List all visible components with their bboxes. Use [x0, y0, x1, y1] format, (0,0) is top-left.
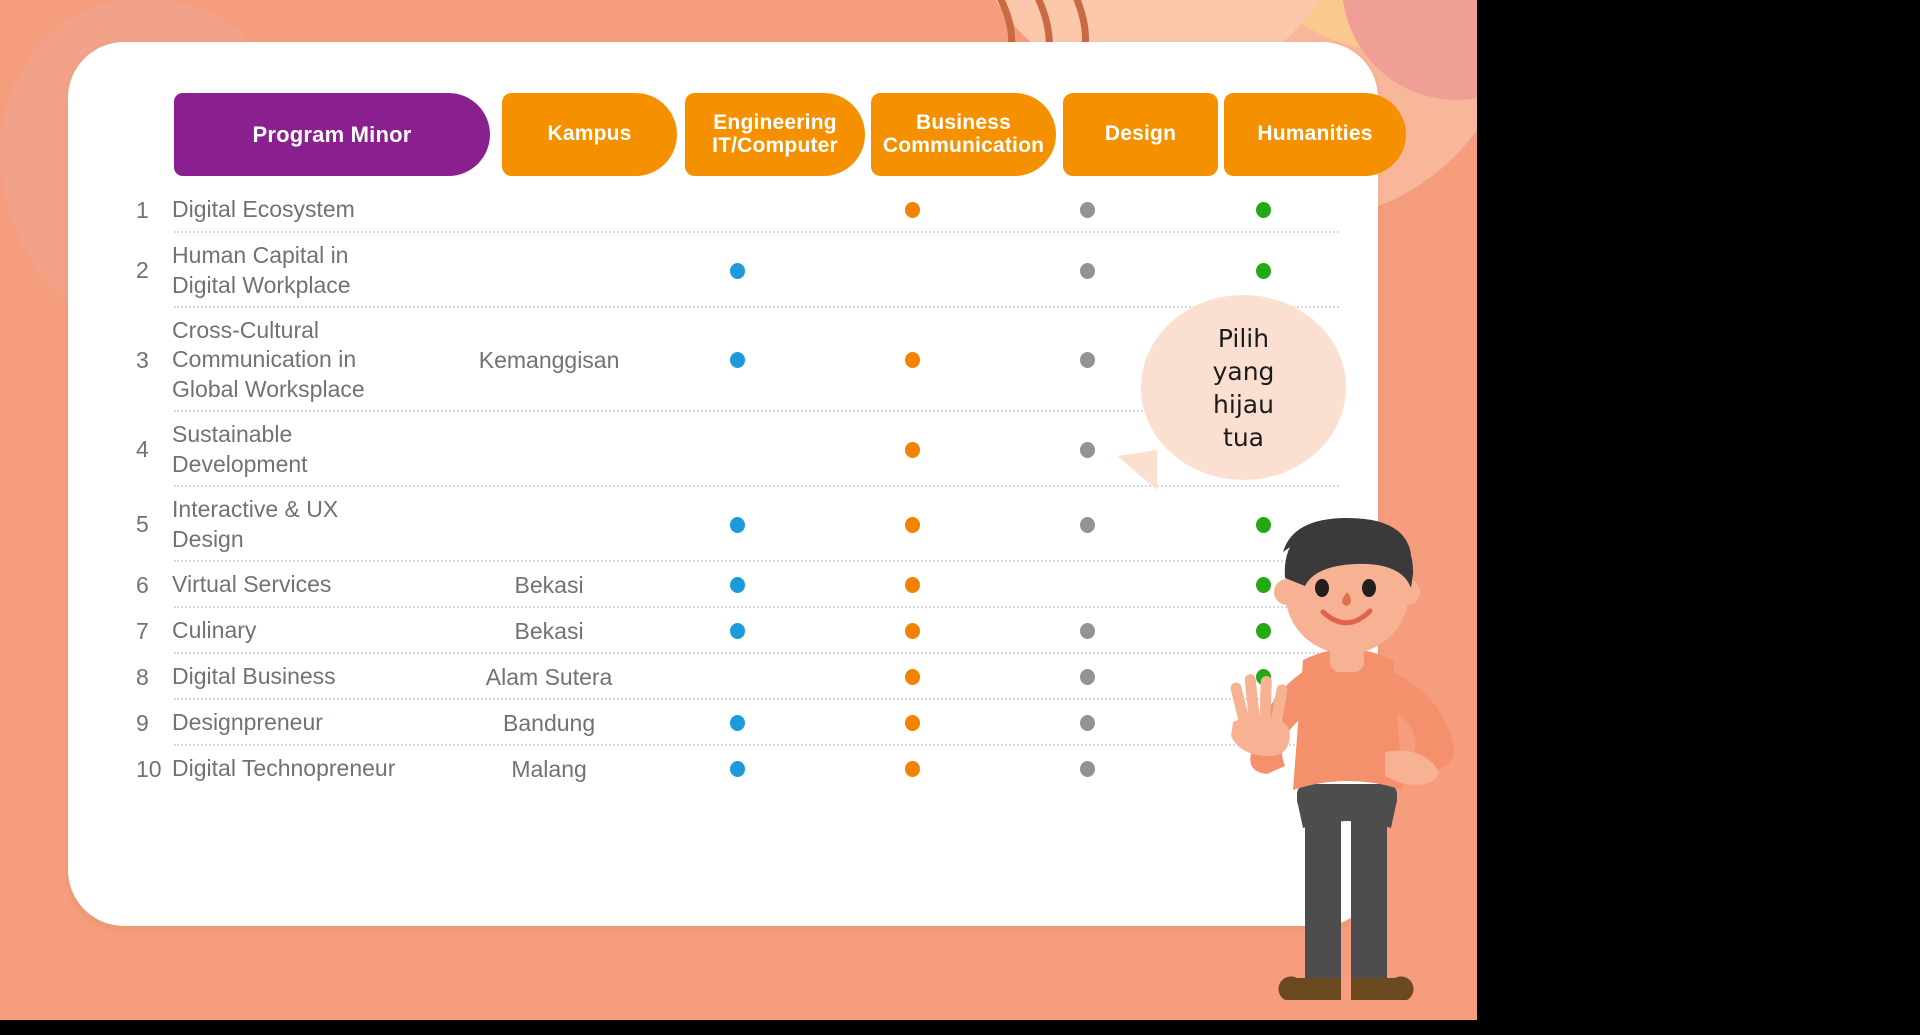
dot-empty	[905, 263, 920, 279]
row-number: 10	[106, 756, 172, 783]
dot-gray-icon	[1080, 623, 1095, 639]
row-campus: Bekasi	[447, 618, 651, 645]
row-number: 5	[106, 511, 172, 538]
row-dot-engineering	[651, 623, 825, 639]
dot-orange-icon	[905, 669, 920, 685]
row-dot-design	[1000, 623, 1175, 639]
dot-blue-icon	[730, 715, 745, 731]
row-campus: Alam Sutera	[447, 664, 651, 691]
row-dot-design	[1000, 761, 1175, 777]
header-label-business: Business Communication	[883, 112, 1044, 157]
header-pill-kampus[interactable]: Kampus	[502, 93, 677, 176]
row-program-name: Digital Technopreneur	[172, 754, 447, 783]
table-body: 1Digital Ecosystem2Human Capital in Digi…	[106, 187, 1351, 792]
row-dot-engineering	[651, 577, 825, 593]
row-number: 6	[106, 572, 172, 599]
row-number: 1	[106, 197, 172, 224]
row-dot-engineering	[651, 761, 825, 777]
row-dot-business	[825, 715, 1000, 731]
dot-orange-icon	[905, 202, 920, 218]
character-illustration	[1217, 500, 1477, 1020]
row-dot-design	[1000, 715, 1175, 731]
row-dot-business	[825, 761, 1000, 777]
row-dot-business	[825, 623, 1000, 639]
row-campus: Bekasi	[447, 572, 651, 599]
row-program-name: Culinary	[172, 616, 447, 645]
row-dot-engineering	[651, 202, 825, 218]
dot-empty	[730, 442, 745, 458]
row-dot-design	[1000, 263, 1175, 279]
header-pill-design[interactable]: Design	[1063, 93, 1218, 176]
dot-blue-icon	[730, 263, 745, 279]
row-program-name: Designpreneur	[172, 708, 447, 737]
row-dot-humanities	[1176, 202, 1351, 218]
row-dot-engineering	[651, 442, 825, 458]
dot-empty	[730, 202, 745, 218]
dot-orange-icon	[905, 352, 920, 368]
dot-green-icon	[1256, 263, 1271, 279]
row-campus: Kemanggisan	[447, 347, 651, 374]
dot-gray-icon	[1080, 442, 1095, 458]
row-program-name: Digital Ecosystem	[172, 195, 447, 224]
row-dot-business	[825, 517, 1000, 533]
row-dot-business	[825, 352, 1000, 368]
row-number: 3	[106, 347, 172, 374]
row-number: 4	[106, 436, 172, 463]
table-row[interactable]: 9DesignpreneurBandung	[106, 700, 1351, 746]
row-dot-engineering	[651, 352, 825, 368]
row-program-name: Sustainable Development	[172, 420, 447, 479]
dot-orange-icon	[905, 442, 920, 458]
header-label-design: Design	[1105, 123, 1176, 145]
row-number: 7	[106, 618, 172, 645]
row-dot-design	[1000, 669, 1175, 685]
row-campus: Bandung	[447, 710, 651, 737]
slide-canvas: Program Minor Kampus Engineering IT/Comp…	[0, 0, 1477, 1020]
dot-blue-icon	[730, 761, 745, 777]
table-row[interactable]: 7CulinaryBekasi	[106, 608, 1351, 654]
header-label-engineering: Engineering IT/Computer	[712, 112, 838, 157]
row-dot-business	[825, 202, 1000, 218]
row-dot-business	[825, 669, 1000, 685]
speech-bubble-tail	[1117, 450, 1157, 490]
dot-blue-icon	[730, 352, 745, 368]
table-row[interactable]: 8Digital BusinessAlam Sutera	[106, 654, 1351, 700]
table-row[interactable]: 2Human Capital in Digital Workplace	[106, 233, 1351, 308]
header-pill-engineering[interactable]: Engineering IT/Computer	[685, 93, 865, 176]
dot-blue-icon	[730, 577, 745, 593]
row-number: 8	[106, 664, 172, 691]
row-dot-design	[1000, 577, 1175, 593]
header-pill-humanities[interactable]: Humanities	[1224, 93, 1406, 176]
row-number: 9	[106, 710, 172, 737]
dot-empty	[1080, 577, 1095, 593]
dot-gray-icon	[1080, 352, 1095, 368]
table-header-row: Program Minor Kampus Engineering IT/Comp…	[106, 93, 1342, 176]
row-dot-humanities	[1176, 263, 1351, 279]
table-card: Program Minor Kampus Engineering IT/Comp…	[68, 42, 1378, 926]
table-row[interactable]: 1Digital Ecosystem	[106, 187, 1351, 233]
row-dot-engineering	[651, 669, 825, 685]
dot-orange-icon	[905, 623, 920, 639]
dot-gray-icon	[1080, 715, 1095, 731]
header-label-humanities: Humanities	[1257, 123, 1372, 145]
dot-orange-icon	[905, 761, 920, 777]
row-dot-business	[825, 577, 1000, 593]
dot-blue-icon	[730, 623, 745, 639]
dot-empty	[730, 669, 745, 685]
dot-gray-icon	[1080, 669, 1095, 685]
row-dot-engineering	[651, 263, 825, 279]
row-program-name: Virtual Services	[172, 570, 447, 599]
row-dot-engineering	[651, 517, 825, 533]
speech-bubble: Pilih yang hijau tua	[1141, 295, 1346, 480]
header-pill-business[interactable]: Business Communication	[871, 93, 1056, 176]
dot-green-icon	[1256, 202, 1271, 218]
table-row[interactable]: 10Digital TechnopreneurMalang	[106, 746, 1351, 792]
row-dot-business	[825, 442, 1000, 458]
header-label-kampus: Kampus	[547, 123, 631, 145]
table-row[interactable]: 6Virtual ServicesBekasi	[106, 562, 1351, 608]
dot-blue-icon	[730, 517, 745, 533]
dot-gray-icon	[1080, 202, 1095, 218]
row-program-name: Cross-Cultural Communication in Global W…	[172, 316, 447, 404]
row-dot-design	[1000, 517, 1175, 533]
row-campus: Malang	[447, 756, 651, 783]
dot-orange-icon	[905, 577, 920, 593]
dot-orange-icon	[905, 715, 920, 731]
row-program-name: Digital Business	[172, 662, 447, 691]
row-program-name: Interactive & UX Design	[172, 495, 447, 554]
dot-orange-icon	[905, 517, 920, 533]
row-number: 2	[106, 257, 172, 284]
header-pill-program-minor[interactable]: Program Minor	[174, 93, 490, 176]
row-program-name: Human Capital in Digital Workplace	[172, 241, 447, 300]
speech-bubble-text: Pilih yang hijau tua	[1213, 322, 1275, 454]
dot-gray-icon	[1080, 761, 1095, 777]
table-row[interactable]: 5Interactive & UX Design	[106, 487, 1351, 562]
row-dot-design	[1000, 202, 1175, 218]
header-label-program-minor: Program Minor	[252, 123, 411, 146]
dot-gray-icon	[1080, 263, 1095, 279]
row-dot-business	[825, 263, 1000, 279]
row-dot-engineering	[651, 715, 825, 731]
dot-gray-icon	[1080, 517, 1095, 533]
